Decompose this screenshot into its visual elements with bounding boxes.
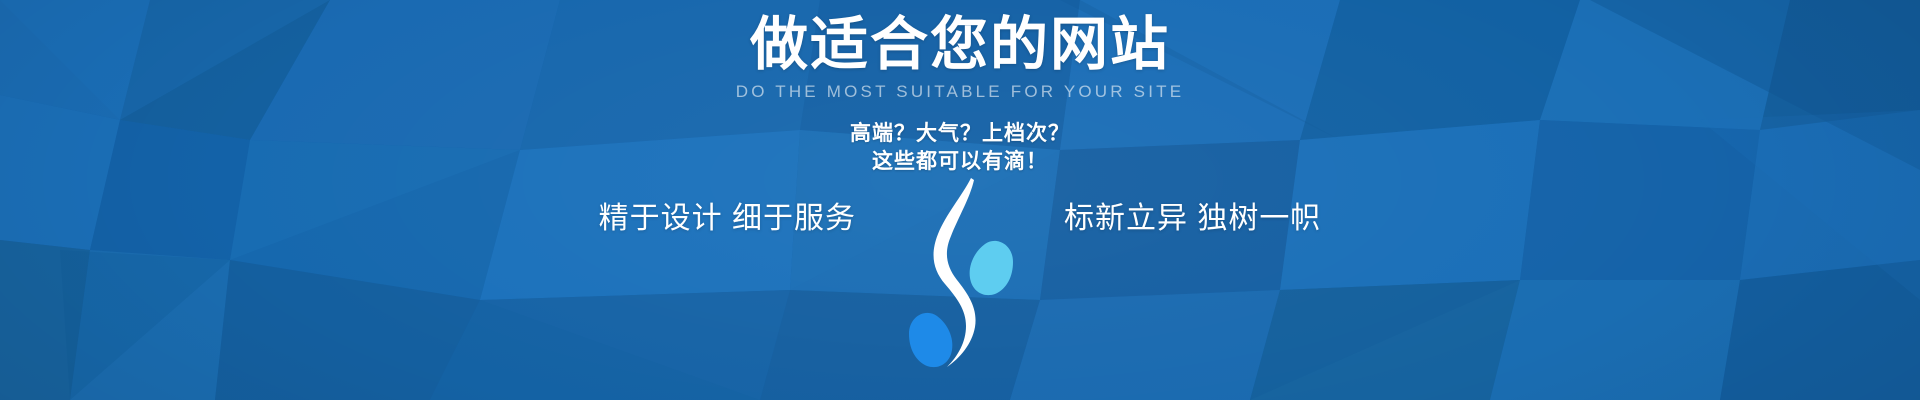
banner-content: 做适合您的网站 DO THE MOST SUITABLE FOR YOUR SI… bbox=[0, 0, 1920, 400]
tagline-line-1: 高端？大气？上档次？ bbox=[850, 120, 1070, 148]
banner-tagline: 高端？大气？上档次？ 这些都可以有滴！ bbox=[850, 120, 1070, 175]
slogan-left: 精于设计 细于服务 bbox=[516, 174, 856, 234]
slogan-right: 标新立异 独树一帜 bbox=[1064, 174, 1404, 234]
hero-banner: 做适合您的网站 DO THE MOST SUITABLE FOR YOUR SI… bbox=[0, 0, 1920, 400]
banner-title: 做适合您的网站 bbox=[750, 16, 1170, 74]
leaf-sprout-logo-icon bbox=[900, 174, 1020, 374]
banner-subtitle-english: DO THE MOST SUITABLE FOR YOUR SITE bbox=[736, 83, 1185, 100]
banner-slogan-row: 精于设计 细于服务 标新立异 独树一帜 bbox=[0, 174, 1920, 374]
tagline-line-2: 这些都可以有滴！ bbox=[850, 148, 1070, 176]
